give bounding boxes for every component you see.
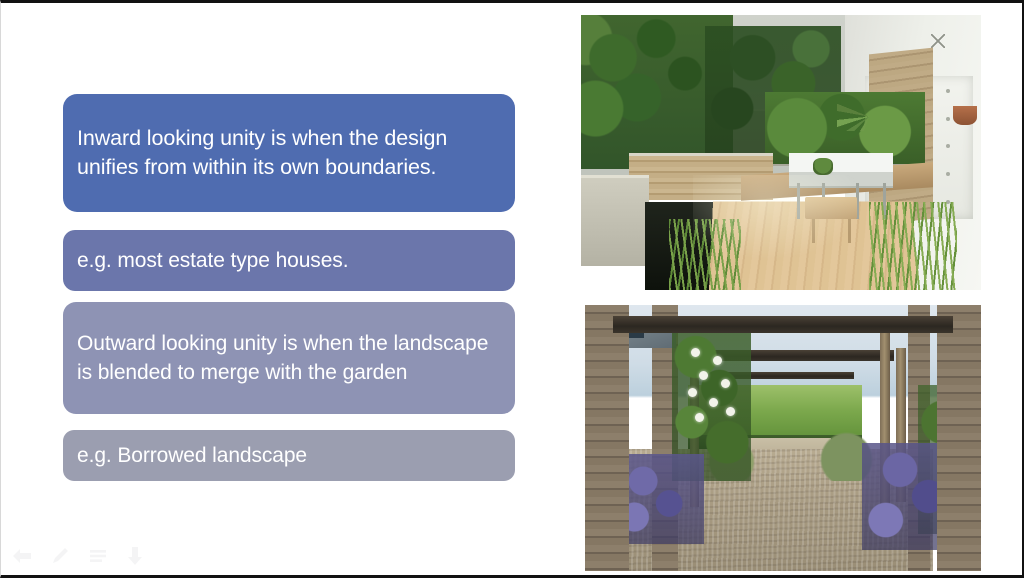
- white-roses: [680, 342, 743, 438]
- callout-inward-unity-example[interactable]: e.g. most estate type houses.: [63, 230, 515, 291]
- terracotta-pot: [953, 106, 977, 125]
- playback-toolbar[interactable]: [11, 545, 147, 567]
- pergola-beam-near: [613, 316, 954, 333]
- callout-inward-unity-definition[interactable]: Inward looking unity is when the design …: [63, 94, 515, 212]
- pergola-scene: [585, 305, 981, 571]
- stone-pillar-outer-left: [585, 305, 629, 571]
- menu-list-icon[interactable]: [87, 545, 109, 567]
- callout-text: Outward looking unity is when the landsc…: [77, 329, 501, 387]
- pointer-icon[interactable]: [125, 545, 147, 567]
- photo-pergola-walkway: [585, 305, 981, 571]
- ornamental-grass-right: [869, 202, 957, 290]
- wall-art-icon: [931, 34, 945, 48]
- courtyard-scene: [581, 15, 981, 290]
- left-planter: [581, 175, 649, 266]
- callout-outward-unity-example[interactable]: e.g. Borrowed landscape: [63, 430, 515, 481]
- stone-pillar-outer-right: [937, 305, 981, 571]
- pen-icon[interactable]: [49, 545, 71, 567]
- lavender-left: [617, 454, 704, 544]
- back-arrow-icon[interactable]: [11, 545, 33, 567]
- table-plant: [813, 158, 833, 175]
- slide: Inward looking unity is when the design …: [0, 0, 1024, 578]
- photo-courtyard-garden: [581, 15, 981, 290]
- sunlight-highlight: [693, 175, 877, 269]
- palm-plant: [837, 59, 901, 131]
- callout-text: e.g. Borrowed landscape: [77, 442, 307, 469]
- callout-text: e.g. most estate type houses.: [77, 247, 348, 274]
- callout-text: Inward looking unity is when the design …: [77, 124, 501, 182]
- callout-outward-unity-definition[interactable]: Outward looking unity is when the landsc…: [63, 302, 515, 414]
